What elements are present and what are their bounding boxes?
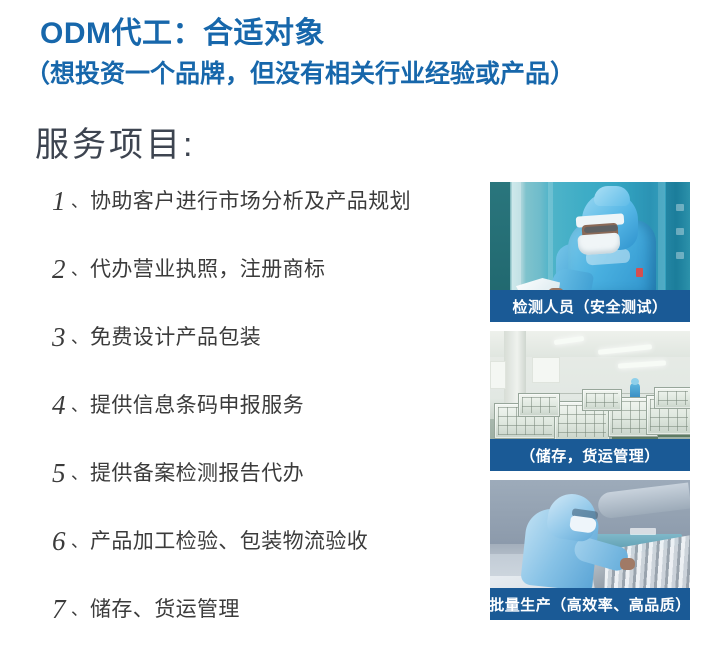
list-item-separator: 、 (71, 186, 90, 218)
list-item: 6 、 产品加工检验、包装物流验收 (52, 526, 472, 594)
list-item-text: 代办营业执照，注册商标 (90, 254, 325, 285)
list-item-separator: 、 (71, 254, 90, 286)
list-item: 7 、 储存、货运管理 (52, 594, 472, 662)
list-item-text: 免费设计产品包装 (90, 322, 261, 353)
photo-card-production: 批量生产（高效率、高品质） (490, 480, 690, 620)
list-item-separator: 、 (71, 322, 90, 354)
list-item: 5 、 提供备案检测报告代办 (52, 458, 472, 526)
photo-caption: 检测人员（安全测试） (490, 290, 690, 322)
list-item-text: 储存、货运管理 (90, 594, 240, 625)
list-item-separator: 、 (71, 390, 90, 422)
list-item-number: 5 (52, 458, 71, 488)
list-item-text: 协助客户进行市场分析及产品规划 (90, 186, 411, 217)
list-item-text: 提供信息条码申报服务 (90, 390, 304, 421)
list-item-separator: 、 (71, 458, 90, 490)
list-item-number: 6 (52, 526, 71, 556)
page-header: ODM代工：合适对象 （想投资一个品牌，但没有相关行业经验或产品） (0, 0, 710, 104)
list-item-number: 3 (52, 322, 71, 352)
page-title-primary: ODM代工：合适对象 (40, 8, 325, 52)
list-item-separator: 、 (71, 526, 90, 558)
photo-column: 检测人员（安全测试） （储存， (490, 182, 690, 629)
list-item: 3 、 免费设计产品包装 (52, 322, 472, 390)
list-item: 2 、 代办营业执照，注册商标 (52, 254, 472, 322)
service-list: 1 、 协助客户进行市场分析及产品规划 2 、 代办营业执照，注册商标 3 、 … (52, 186, 472, 662)
list-item-text: 提供备案检测报告代办 (90, 458, 304, 489)
photo-card-storage: （储存，货运管理） (490, 331, 690, 471)
list-item: 4 、 提供信息条码申报服务 (52, 390, 472, 458)
section-heading-services: 服务项目: (35, 117, 195, 166)
list-item-number: 7 (52, 594, 71, 624)
list-item-text: 产品加工检验、包装物流验收 (90, 526, 368, 557)
list-item-number: 2 (52, 254, 71, 284)
list-item-separator: 、 (71, 594, 90, 626)
photo-caption: 批量生产（高效率、高品质） (490, 588, 690, 620)
list-item: 1 、 协助客户进行市场分析及产品规划 (52, 186, 472, 254)
photo-caption: （储存，货运管理） (490, 439, 690, 471)
page-title-secondary: （想投资一个品牌，但没有相关行业经验或产品） (25, 54, 575, 90)
photo-card-inspection: 检测人员（安全测试） (490, 182, 690, 322)
list-item-number: 1 (52, 186, 71, 216)
list-item-number: 4 (52, 390, 71, 420)
